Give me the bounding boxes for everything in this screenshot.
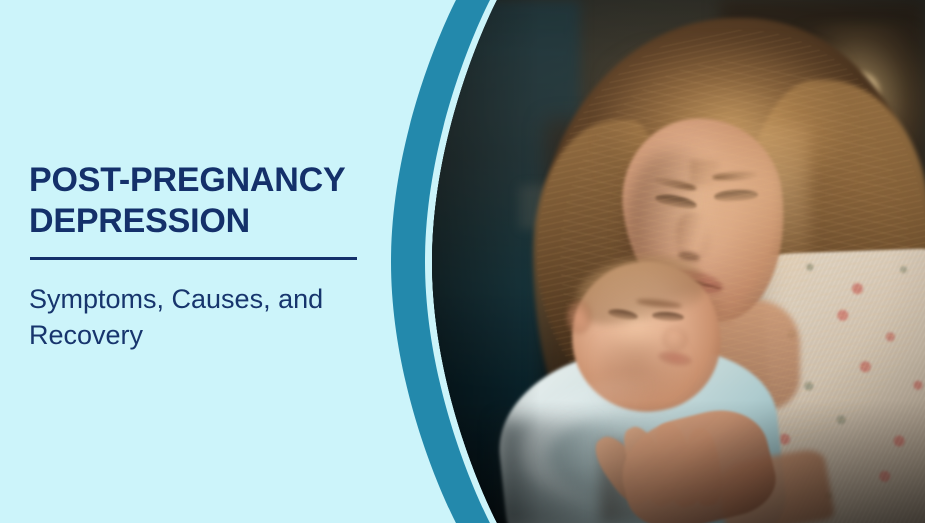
left-text-panel: POST-PREGNANCY DEPRESSION Symptoms, Caus… [0, 0, 420, 523]
subtitle-line-1: Symptoms, Causes, and [29, 281, 389, 317]
page-subtitle: Symptoms, Causes, and Recovery [29, 281, 389, 353]
headline-line-2: DEPRESSION [29, 201, 389, 242]
subtitle-line-2: Recovery [29, 317, 389, 353]
post-pregnancy-depression-banner: POST-PREGNANCY DEPRESSION Symptoms, Caus… [0, 0, 925, 523]
headline-line-1: POST-PREGNANCY [29, 160, 389, 201]
page-title: POST-PREGNANCY DEPRESSION [29, 160, 389, 242]
title-divider-rule [30, 257, 357, 260]
